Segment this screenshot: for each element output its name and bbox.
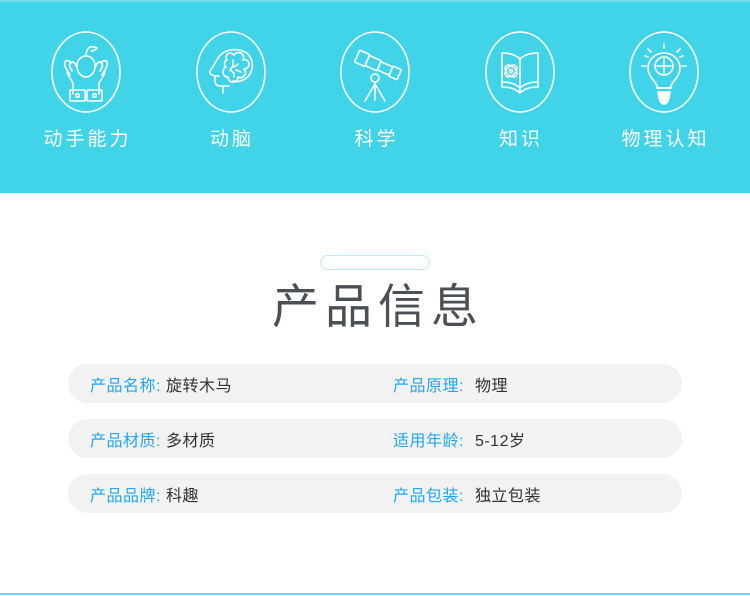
info-cell-product-principle: 产品原理: 物理 <box>393 372 508 396</box>
product-info-section: 产品信息 产品名称: 旋转木马 产品原理: 物理 产品材质: 多材质 适用年龄:… <box>0 193 750 529</box>
info-label-product-material: 产品材质: <box>90 427 161 451</box>
bottom-divider <box>0 593 750 595</box>
info-value-product-packaging: 独立包装 <box>475 482 541 506</box>
info-label-product-packaging: 产品包装: <box>393 482 464 506</box>
info-value-product-name: 旋转木马 <box>166 372 232 396</box>
feature-label-physics: 物理认知 <box>618 130 709 149</box>
feature-item-physics: 物理认知 <box>596 28 732 149</box>
table-row: 产品名称: 旋转木马 产品原理: 物理 <box>68 364 682 403</box>
feature-label-hands-on: 动手能力 <box>40 130 131 149</box>
product-info-table: 产品名称: 旋转木马 产品原理: 物理 产品材质: 多材质 适用年龄: 5-12… <box>0 364 750 513</box>
page-title: 产品信息 <box>0 280 750 334</box>
info-value-suitable-age: 5-12岁 <box>475 427 526 451</box>
feature-item-hands-on: 动手能力 <box>18 28 154 149</box>
info-label-product-name: 产品名称: <box>90 372 161 396</box>
table-row: 产品品牌: 科趣 产品包装: 独立包装 <box>68 474 682 513</box>
feature-label-knowledge: 知识 <box>496 130 543 149</box>
info-cell-product-material: 产品材质: 多材质 <box>68 427 393 451</box>
head-brain-icon <box>193 28 269 116</box>
telescope-icon <box>337 28 413 116</box>
open-book-icon <box>482 28 558 116</box>
info-label-product-principle: 产品原理: <box>393 372 464 396</box>
info-value-product-material: 多材质 <box>166 427 216 451</box>
feature-item-science: 科学 <box>307 28 443 149</box>
info-cell-product-name: 产品名称: 旋转木马 <box>68 372 393 396</box>
title-decoration-pill <box>320 255 430 270</box>
feature-label-brain: 动脑 <box>207 130 254 149</box>
feature-list: 动手能力 <box>0 2 750 193</box>
feature-hero-banner: 动手能力 <box>0 0 750 193</box>
section-title-wrap: 产品信息 <box>0 193 750 334</box>
info-label-suitable-age: 适用年龄: <box>393 427 464 451</box>
info-label-product-brand: 产品品牌: <box>90 482 161 506</box>
feature-item-brain: 动脑 <box>163 28 299 149</box>
info-cell-suitable-age: 适用年龄: 5-12岁 <box>393 427 525 451</box>
info-value-product-principle: 物理 <box>475 372 508 396</box>
hands-apple-icon <box>48 28 124 116</box>
table-row: 产品材质: 多材质 适用年龄: 5-12岁 <box>68 419 682 458</box>
lightbulb-plus-icon <box>626 28 702 116</box>
feature-item-knowledge: 知识 <box>452 28 588 149</box>
info-value-product-brand: 科趣 <box>166 482 199 506</box>
info-cell-product-brand: 产品品牌: 科趣 <box>68 482 393 506</box>
feature-label-science: 科学 <box>351 130 398 149</box>
info-cell-product-packaging: 产品包装: 独立包装 <box>393 482 541 506</box>
